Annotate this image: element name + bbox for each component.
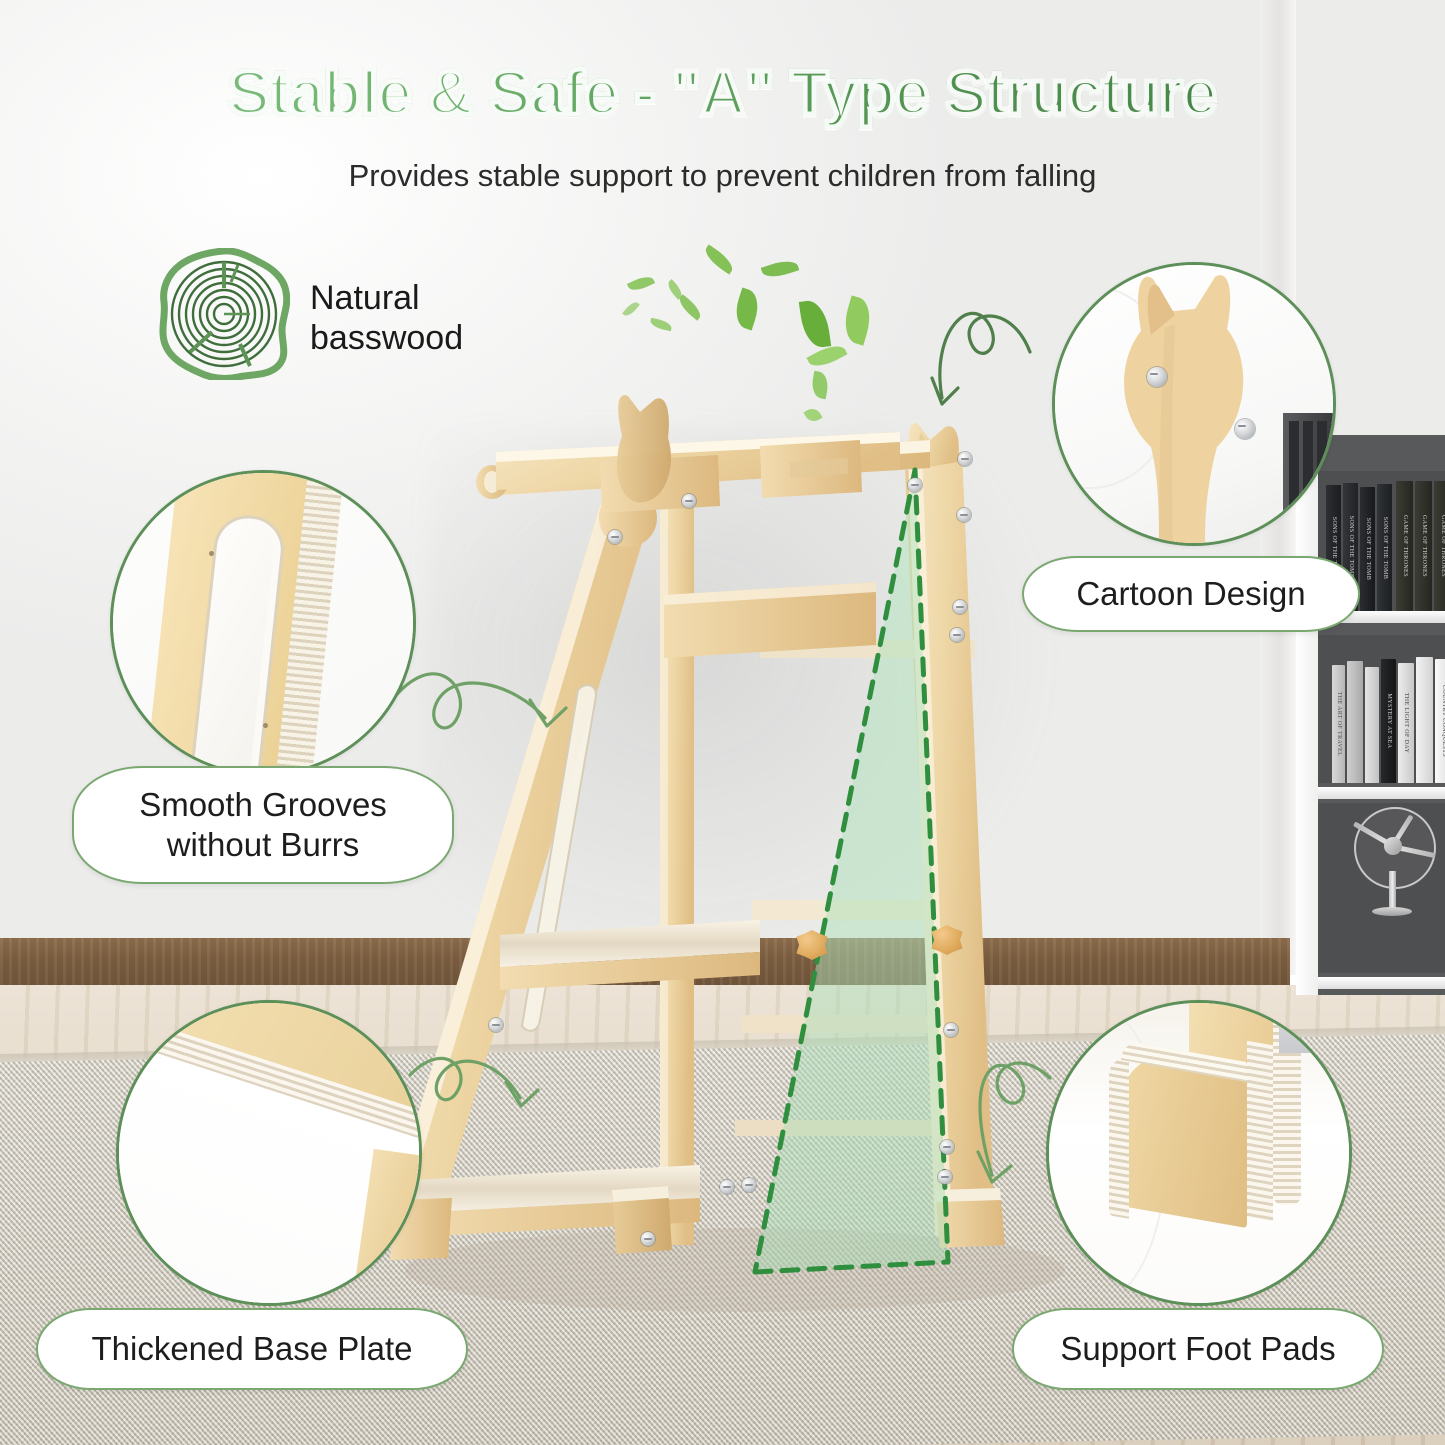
- screw: [1147, 367, 1167, 387]
- tree-rings-icon: [158, 248, 290, 380]
- label-thickened-base-plate: Thickened Base Plate: [36, 1308, 468, 1390]
- page-subtitle: Provides stable support to prevent child…: [0, 158, 1445, 194]
- label-smooth-grooves-line1: Smooth Grooves: [139, 785, 387, 825]
- screw: [641, 1232, 655, 1246]
- screw: [944, 1023, 958, 1037]
- screw: [908, 478, 922, 492]
- support-foot-photo: [1049, 1003, 1349, 1303]
- label-smooth-grooves-line2: without Burrs: [139, 825, 387, 865]
- wood-panel-groove-photo: [113, 473, 413, 773]
- label-cartoon-design-text: Cartoon Design: [1076, 574, 1305, 614]
- label-support-foot-pads-text: Support Foot Pads: [1060, 1329, 1335, 1369]
- legend-label-line1: Natural: [310, 278, 420, 319]
- screw: [938, 1170, 952, 1184]
- safety-back-rail: [664, 582, 876, 658]
- label-thickened-base-plate-text: Thickened Base Plate: [91, 1329, 412, 1369]
- inset-smooth-grooves: [110, 470, 416, 776]
- middle-cat-head: [617, 395, 671, 502]
- screw: [1235, 419, 1255, 439]
- label-support-foot-pads: Support Foot Pads: [1012, 1308, 1384, 1390]
- legend-label-line2: basswood: [310, 318, 463, 359]
- screw: [940, 1140, 954, 1154]
- screw: [742, 1178, 756, 1192]
- screw: [958, 452, 972, 466]
- screw: [720, 1180, 734, 1194]
- inset-thickened-base-plate: [116, 1000, 422, 1306]
- screw: [608, 530, 622, 544]
- inset-cartoon-design: [1052, 262, 1336, 546]
- plywood-base-plate-photo: [119, 1003, 419, 1303]
- cat-head-top-photo: [1055, 265, 1333, 543]
- screw: [489, 1018, 503, 1032]
- page-title: Stable & Safe - "A" Type Structure: [0, 58, 1445, 129]
- screw: [957, 508, 971, 522]
- inset-support-foot-pads: [1046, 1000, 1352, 1306]
- screw: [950, 628, 964, 642]
- screw: [682, 494, 696, 508]
- infographic-canvas: SONS OF THE TOMB SONS OF THE TOMB SONS O…: [0, 0, 1445, 1445]
- label-cartoon-design: Cartoon Design: [1022, 556, 1360, 632]
- screw: [953, 600, 967, 614]
- label-smooth-grooves: Smooth Grooves without Burrs: [72, 766, 454, 884]
